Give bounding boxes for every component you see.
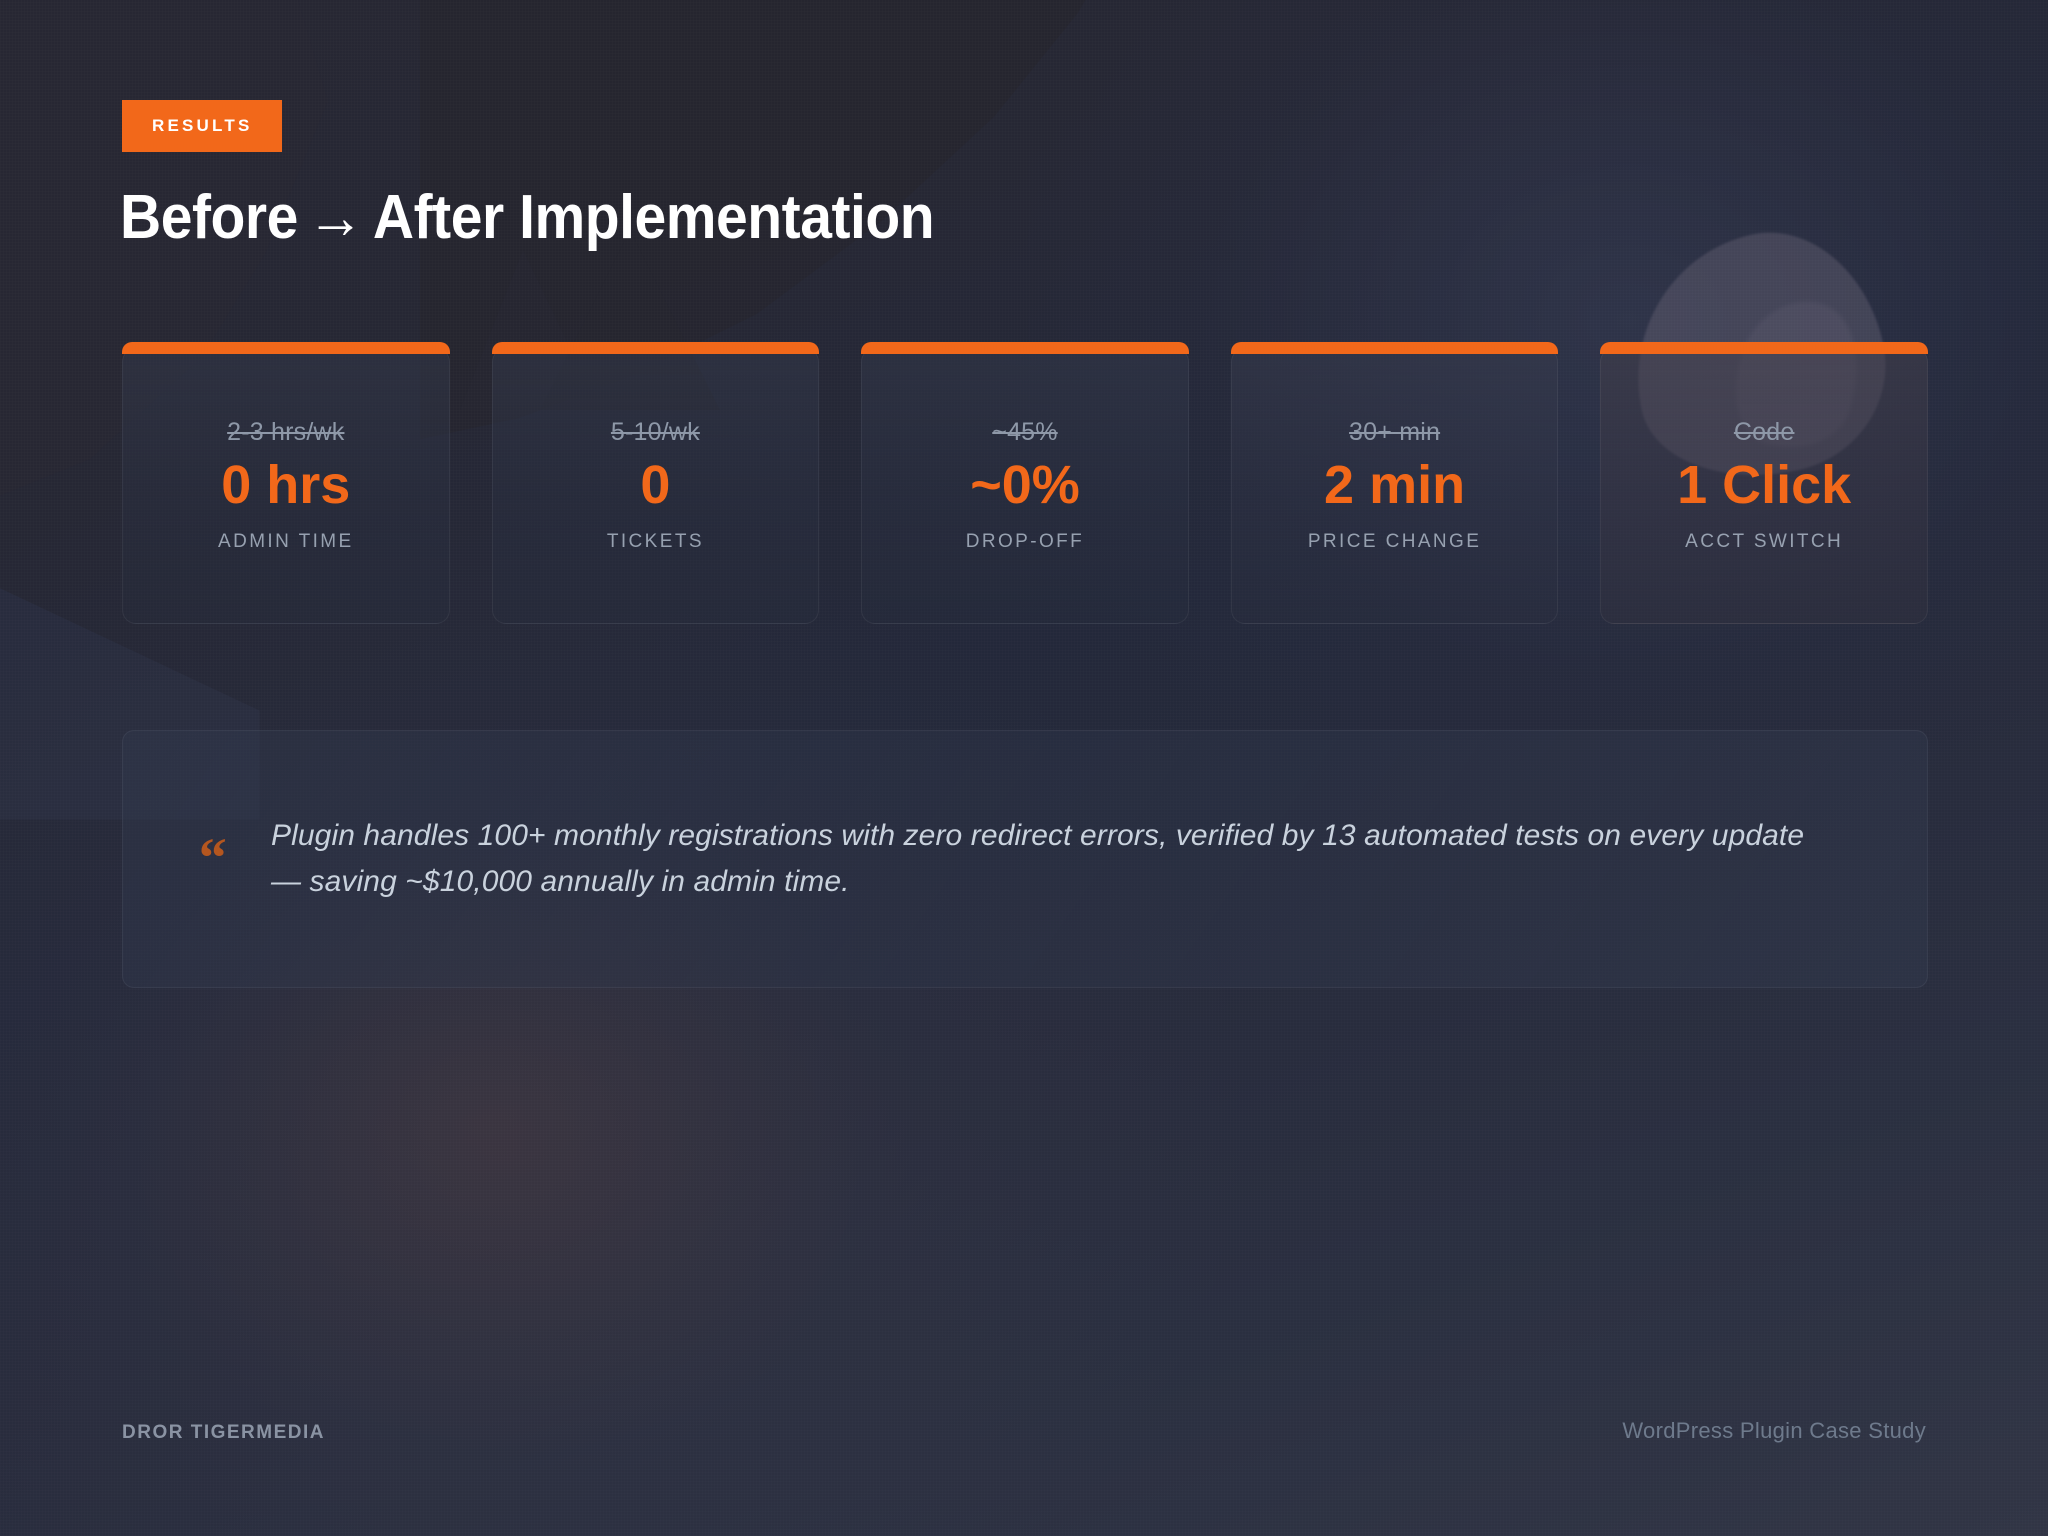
stat-after-value: 2 min	[1324, 457, 1465, 514]
results-badge-label: RESULTS	[152, 116, 252, 136]
stat-label: TICKETS	[607, 531, 704, 553]
stat-after-value: 1 Click	[1677, 457, 1851, 514]
footer-brand: DROR TIGERMEDIA	[122, 1422, 325, 1444]
stat-card-tickets: 5-10/wk 0 TICKETS	[492, 348, 820, 624]
stat-before-value: 2-3 hrs/wk	[227, 418, 344, 447]
stat-card-grid: 2-3 hrs/wk 0 hrs ADMIN TIME 5-10/wk 0 TI…	[122, 348, 1928, 624]
stat-card-acct-switch: Code 1 Click ACCT SWITCH	[1600, 348, 1928, 624]
stat-card-drop-off: ~45% ~0% DROP-OFF	[861, 348, 1189, 624]
stat-label: ADMIN TIME	[218, 531, 354, 553]
slide-content: RESULTS Before→After Implementation 2-3 …	[0, 0, 2048, 1536]
stat-label: DROP-OFF	[966, 531, 1084, 553]
page-title: Before→After Implementation	[120, 182, 934, 253]
stat-before-value: 5-10/wk	[611, 418, 700, 447]
stat-after-value: 0 hrs	[221, 457, 350, 514]
stat-before-value: ~45%	[992, 418, 1057, 447]
footer-caption: WordPress Plugin Case Study	[1622, 1418, 1926, 1444]
page-title-before: Before	[120, 183, 298, 252]
quote-callout: ” Plugin handles 100+ monthly registrati…	[122, 730, 1928, 988]
stat-before-value: Code	[1734, 418, 1795, 447]
stat-card-admin-time: 2-3 hrs/wk 0 hrs ADMIN TIME	[122, 348, 450, 624]
stat-before-value: 30+ min	[1349, 418, 1440, 447]
stat-after-value: ~0%	[970, 457, 1080, 514]
stat-label: PRICE CHANGE	[1308, 531, 1481, 553]
arrow-right-icon: →	[298, 183, 373, 252]
slide-root: RESULTS Before→After Implementation 2-3 …	[0, 0, 2048, 1536]
stat-after-value: 0	[640, 457, 670, 514]
page-title-after: After Implementation	[373, 183, 934, 252]
stat-label: ACCT SWITCH	[1685, 531, 1843, 553]
quote-text: Plugin handles 100+ monthly registration…	[271, 813, 1831, 906]
results-badge: RESULTS	[122, 100, 282, 152]
stat-card-price-change: 30+ min 2 min PRICE CHANGE	[1231, 348, 1559, 624]
quote-mark-icon: ”	[199, 819, 227, 853]
